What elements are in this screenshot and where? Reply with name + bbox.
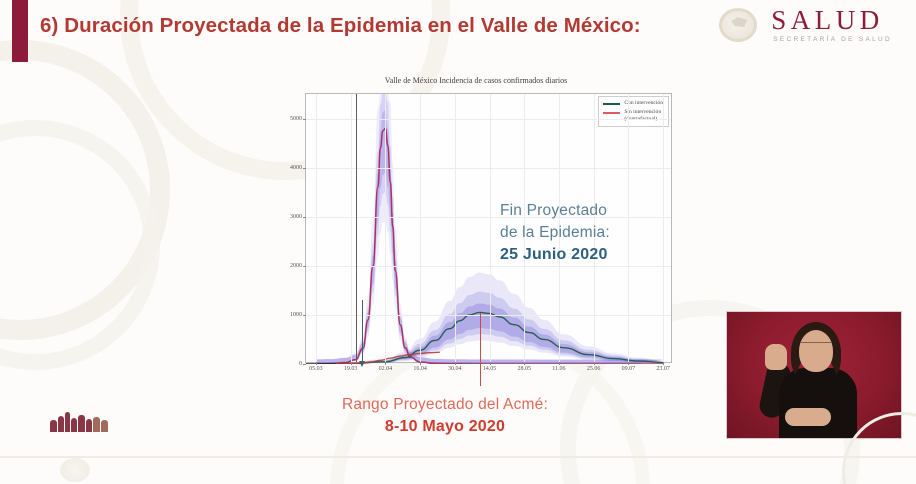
x-tickmark xyxy=(559,362,560,365)
annotation-rango-acme: Rango Proyectado del Acmé: 8-10 Mayo 202… xyxy=(305,394,585,438)
background-swoosh xyxy=(0,120,160,370)
mexican-eagle-icon xyxy=(715,6,761,44)
y-axis-tick-label: 5000 xyxy=(290,116,302,122)
x-axis-tick-label: 05.03 xyxy=(309,366,323,372)
annotation-fin-line2: de la Epidemia: xyxy=(500,222,610,244)
x-axis-tick-label: 30.04 xyxy=(448,366,462,372)
y-tickmark xyxy=(303,119,306,120)
gridline xyxy=(316,94,317,362)
chart-plot-area: Con intervenciónSin intervención (contra… xyxy=(305,93,672,363)
interpreter-body xyxy=(779,368,857,439)
gridline xyxy=(306,217,671,218)
x-tickmark xyxy=(316,362,317,365)
footer-divider xyxy=(0,456,916,458)
y-axis-tick-label: 3000 xyxy=(290,214,302,220)
legend-item-label: Sin intervención (contrafactual) xyxy=(624,109,661,123)
legend-item[interactable]: Con intervención xyxy=(603,100,663,107)
y-tickmark xyxy=(303,364,306,365)
legend-color-swatch xyxy=(603,103,620,105)
epidemic-projection-chart: Valle de México Incidencia de casos conf… xyxy=(276,76,676,376)
gridline xyxy=(628,94,629,362)
gridline xyxy=(663,94,664,362)
y-tickmark xyxy=(303,266,306,267)
interpreter-head xyxy=(799,330,833,372)
government-seal-watermark xyxy=(60,458,90,482)
y-axis-tick-label: 2000 xyxy=(290,263,302,269)
annotation-fin-epidemia: Fin Proyectado de la Epidemia: 25 Junio … xyxy=(500,200,610,267)
logo-subtitle: SECRETARÍA DE SALUD xyxy=(771,37,892,44)
gridline xyxy=(351,94,352,362)
x-tickmark xyxy=(385,362,386,365)
gridline xyxy=(385,94,386,362)
interpreter-hand-raised xyxy=(765,344,787,370)
title-accent-bar xyxy=(12,0,28,62)
x-axis-tick-label: 25.06 xyxy=(587,366,601,372)
y-tickmark xyxy=(303,168,306,169)
x-tickmark xyxy=(524,362,525,365)
page-title: 6) Duración Proyectada de la Epidemia en… xyxy=(40,12,690,39)
glasses-icon xyxy=(801,342,831,350)
x-axis-tick-label: 23.07 xyxy=(656,366,670,372)
y-axis-tick-label: 1000 xyxy=(290,312,302,318)
y-tickmark xyxy=(303,217,306,218)
intervention-arrow-shaft xyxy=(362,300,364,361)
x-axis-tick-label: 02.04 xyxy=(379,366,393,372)
chart-legend: Con intervenciónSin intervención (contra… xyxy=(598,96,669,127)
x-axis-tick-label: 09.07 xyxy=(622,366,636,372)
annotation-acme-date: 8-10 Mayo 2020 xyxy=(305,416,585,438)
legend-item[interactable]: Sin intervención (contrafactual) xyxy=(603,109,663,123)
annotation-acme-line1: Rango Proyectado del Acmé: xyxy=(305,394,585,416)
gridline xyxy=(490,94,491,362)
annotation-fin-date: 25 Junio 2020 xyxy=(500,244,610,267)
intervention-start-line xyxy=(356,94,357,362)
acme-callout-line xyxy=(480,364,481,386)
logo-wordmark: SALUD xyxy=(771,7,892,34)
y-axis-tick-label: 0 xyxy=(299,361,302,367)
historic-figures-graphic xyxy=(48,410,110,432)
background-swoosh xyxy=(0,40,170,340)
gridline xyxy=(306,168,671,169)
x-tickmark xyxy=(351,362,352,365)
x-axis-tick-label: 28.05 xyxy=(517,366,531,372)
intervention-arrow-head xyxy=(359,361,365,367)
gridline xyxy=(306,266,671,267)
interpreter-hand-lower xyxy=(785,408,831,426)
presentation-slide: 6) Duración Proyectada de la Epidemia en… xyxy=(0,0,916,484)
x-axis-tick-label: 16.04 xyxy=(413,366,427,372)
x-tickmark xyxy=(594,362,595,365)
salud-logo: SALUD SECRETARÍA DE SALUD xyxy=(715,6,892,44)
x-tickmark xyxy=(455,362,456,365)
chart-title: Valle de México Incidencia de casos conf… xyxy=(276,76,676,85)
gridline xyxy=(306,119,671,120)
y-tickmark xyxy=(303,315,306,316)
annotation-fin-line1: Fin Proyectado xyxy=(500,200,610,222)
x-axis-tick-label: 19.03 xyxy=(344,366,358,372)
x-tickmark xyxy=(420,362,421,365)
x-tickmark xyxy=(490,362,491,365)
x-tickmark xyxy=(663,362,664,365)
x-axis-tick-label: 14.05 xyxy=(483,366,497,372)
x-axis-tick-label: 11.06 xyxy=(552,366,565,372)
gridline xyxy=(455,94,456,362)
gridline xyxy=(420,94,421,362)
y-axis-tick-label: 4000 xyxy=(290,165,302,171)
x-tickmark xyxy=(628,362,629,365)
legend-color-swatch xyxy=(603,112,620,114)
acme-peak-marker xyxy=(480,313,481,364)
legend-item-label: Con intervención xyxy=(624,100,663,107)
